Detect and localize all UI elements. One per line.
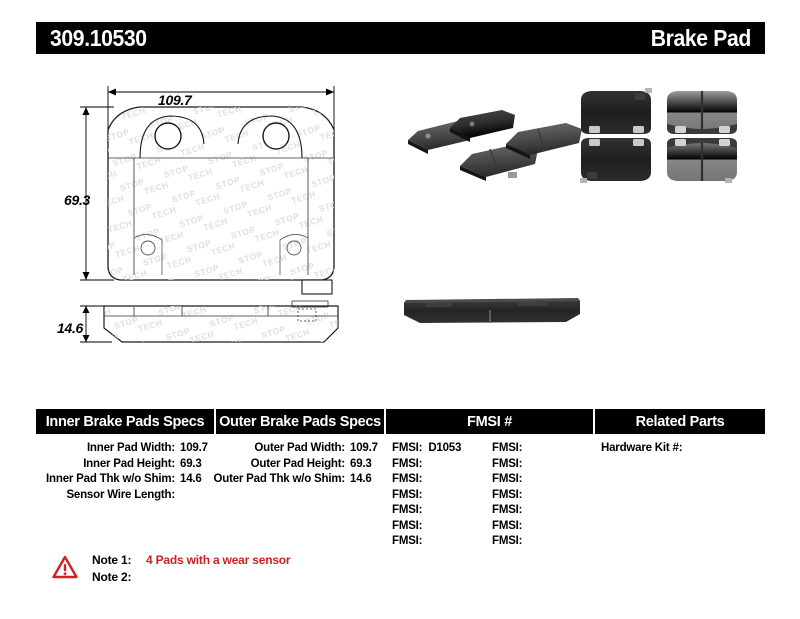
fmsi-subcolumn-right: FMSI: FMSI: FMSI: FMSI: [492,441,592,550]
fmsi-label: FMSI: [492,457,522,473]
page-title: Brake Pad [651,25,751,52]
fmsi-label: FMSI: [492,472,522,488]
note-row: Note 1: 4 Pads with a wear sensor [92,552,290,569]
fmsi-row: FMSI: [492,488,592,504]
spec-label: Inner Pad Height: [83,457,175,473]
note-text: 4 Pads with a wear sensor [146,552,290,569]
fmsi-row: FMSI: [492,534,592,550]
pad-photo-friction-bottom-right [667,138,737,183]
spec-label: Outer Pad Thk w/o Shim: [214,472,346,488]
note-row: Note 2: [92,569,290,586]
fmsi-label: FMSI: [492,534,522,550]
technical-drawing: STOP TECH [36,70,406,370]
fmsi-row: FMSI: [492,503,592,519]
dimension-height-label: 69.3 [64,192,90,208]
fmsi-label: FMSI: [392,472,422,488]
fmsi-row: FMSI: [392,519,492,535]
inner-specs-column: Inner Pad Width: 109.7 Inner Pad Height:… [36,441,214,550]
column-header-fmsi: FMSI # [384,409,593,434]
note-lines: Note 1: 4 Pads with a wear sensor Note 2… [92,552,290,586]
fmsi-label: FMSI: [392,503,422,519]
spec-row: Outer Pad Width: 109.7 [214,441,380,457]
spec-value [180,488,210,504]
fmsi-label: FMSI: [492,441,522,457]
thk-arrow-up [83,306,90,313]
note-label: Note 1: [92,552,140,569]
fmsi-label: FMSI: [392,534,422,550]
spec-row: Outer Pad Thk w/o Shim: 14.6 [214,472,380,488]
stoptech-watermark [96,100,356,290]
spec-label: Inner Pad Width: [87,441,175,457]
fmsi-column: FMSI: D1053 FMSI: FMSI: FMSI: [384,441,593,550]
outer-specs-column: Outer Pad Width: 109.7 Outer Pad Height:… [214,441,384,550]
spec-label: Outer Pad Width: [254,441,345,457]
spec-value: 109.7 [350,441,380,457]
fmsi-label: FMSI: [492,503,522,519]
note-label: Note 2: [92,569,140,586]
table-header-row: Inner Brake Pads Specs Outer Brake Pads … [36,409,765,434]
fmsi-label: FMSI: [392,519,422,535]
spec-value: 14.6 [350,472,380,488]
spec-row: Sensor Wire Length: [36,488,210,504]
spec-value: 69.3 [350,457,380,473]
fmsi-subcolumn-left: FMSI: D1053 FMSI: FMSI: FMSI: [392,441,492,550]
column-header-inner-specs: Inner Brake Pads Specs [36,409,214,434]
notes-section: Note 1: 4 Pads with a wear sensor Note 2… [52,552,290,586]
spec-row: Inner Pad Height: 69.3 [36,457,210,473]
fmsi-label: FMSI: [492,488,522,504]
table-body: Inner Pad Width: 109.7 Inner Pad Height:… [36,434,765,550]
spec-value: 14.6 [180,472,210,488]
related-part-row: Hardware Kit #: [601,441,765,457]
fmsi-label: FMSI: [392,457,422,473]
spec-row: Inner Pad Thk w/o Shim: 14.6 [36,472,210,488]
spec-label: Outer Pad Height: [251,457,345,473]
fmsi-row: FMSI: [392,534,492,550]
spec-label: Inner Pad Thk w/o Shim: [46,472,175,488]
brake-pad-drawing-svg: STOP TECH [36,70,406,370]
dim-arrow-down [83,272,90,280]
spec-value: 69.3 [180,457,210,473]
wear-sensor-tab [302,280,332,294]
pad-photo-backing-bottom-left [580,138,651,183]
related-part-label: Hardware Kit #: [601,442,682,454]
mounting-hole-left [155,123,181,149]
spec-sheet: 309.10530 Brake Pad STOP TECH [0,0,800,619]
spec-row: Outer Pad Height: 69.3 [214,457,380,473]
fmsi-row: FMSI: D1053 [392,441,492,457]
brake-pad-set-angled-photo [398,88,588,188]
fmsi-row: FMSI: [492,457,592,473]
fmsi-row: FMSI: [492,519,592,535]
fmsi-label: FMSI: [392,441,422,457]
spec-table: Inner Brake Pads Specs Outer Brake Pads … [36,409,765,550]
column-header-related-parts: Related Parts [593,409,765,434]
fmsi-row: FMSI: [392,457,492,473]
thk-arrow-down [83,335,90,342]
fmsi-row: FMSI: [392,472,492,488]
fmsi-row: FMSI: [492,472,592,488]
dim-arrow-right [326,89,334,96]
fmsi-row: FMSI: [392,488,492,504]
pad-edge-detail-left [426,303,452,307]
column-header-outer-specs: Outer Brake Pads Specs [214,409,384,434]
warning-triangle-icon [52,555,78,579]
fmsi-row: FMSI: [392,503,492,519]
related-parts-column: Hardware Kit #: [593,441,765,550]
fmsi-label: FMSI: [492,519,522,535]
pad-photo-friction-top-right [667,91,737,134]
pad-photo-backing-top-left [581,88,652,134]
dimension-thickness-label: 14.6 [57,320,83,336]
brake-pad-set-top-view-photo [575,86,747,194]
spec-label: Sensor Wire Length: [66,488,175,504]
fmsi-value: D1053 [428,441,461,457]
dim-arrow-up [83,107,90,115]
spec-row: Inner Pad Width: 109.7 [36,441,210,457]
header-bar: 309.10530 Brake Pad [36,22,765,54]
pad-edge-detail-right [518,302,548,306]
mounting-hole-right [263,123,289,149]
brake-pad-edge-view-photo [398,288,588,340]
fmsi-row: FMSI: [492,441,592,457]
dim-arrow-left [108,89,116,96]
part-number: 309.10530 [50,25,147,52]
dimension-width-label: 109.7 [158,92,192,108]
fmsi-label: FMSI: [392,488,422,504]
spec-value: 109.7 [180,441,210,457]
